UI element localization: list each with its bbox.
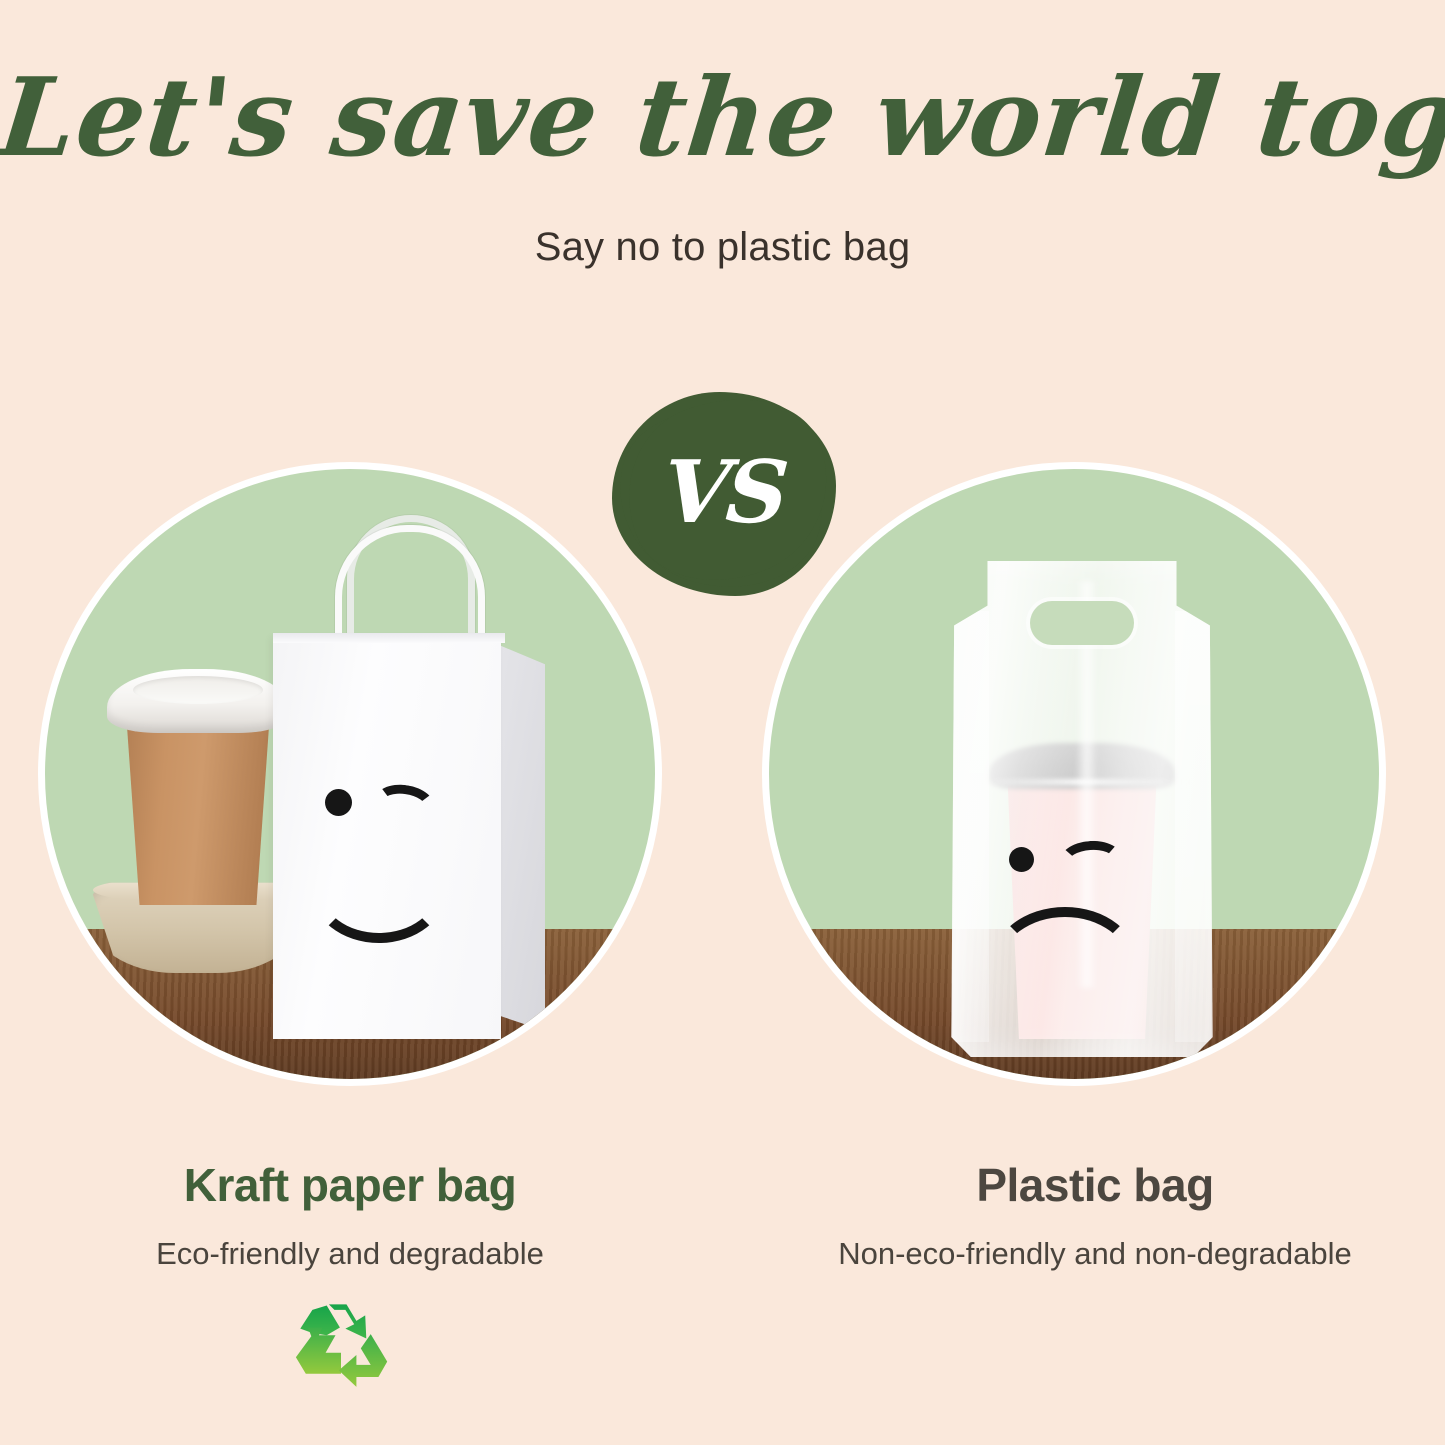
versus-label: VS [605, 392, 843, 596]
smiley-eye-icon [325, 789, 352, 816]
plastic-bag-photo [762, 462, 1386, 1086]
plastic-caption: Plastic bag Non-eco-friendly and non-deg… [755, 1158, 1435, 1272]
bag-side-panel [499, 645, 545, 1031]
plastic-caption-subtitle: Non-eco-friendly and non-degradable [755, 1236, 1435, 1272]
plastic-caption-title: Plastic bag [755, 1158, 1435, 1212]
kraft-paper-bag-photo [38, 462, 662, 1086]
die-cut-handle-icon [1030, 601, 1134, 645]
white-paper-bag [273, 637, 545, 1039]
cup-lid [107, 669, 289, 733]
bag-gusset-right [1175, 611, 1211, 1043]
poster-canvas: Let's save the world together Say no to … [0, 0, 1445, 1445]
recycle-icon [282, 1300, 400, 1410]
kraft-cup-body [119, 725, 277, 905]
page-title: Let's save the world together [0, 62, 1445, 175]
bag-top-edge [273, 633, 505, 643]
kraft-scene [45, 469, 655, 1079]
bag-gusset-left [953, 611, 989, 1043]
kraft-caption: Kraft paper bag Eco-friendly and degrada… [10, 1158, 690, 1272]
plastic-scene [769, 469, 1379, 1079]
bag-fold-line [976, 779, 1187, 785]
kraft-coffee-cup [113, 669, 283, 969]
plastic-bag [943, 561, 1221, 1057]
smiley-mouth-icon [311, 835, 447, 943]
versus-badge: VS [612, 392, 836, 596]
frowny-eye-icon [1009, 847, 1034, 872]
kraft-caption-title: Kraft paper bag [10, 1158, 690, 1212]
kraft-caption-subtitle: Eco-friendly and degradable [10, 1236, 690, 1272]
page-subtitle: Say no to plastic bag [0, 225, 1445, 270]
frowny-mouth-icon [991, 907, 1139, 1023]
